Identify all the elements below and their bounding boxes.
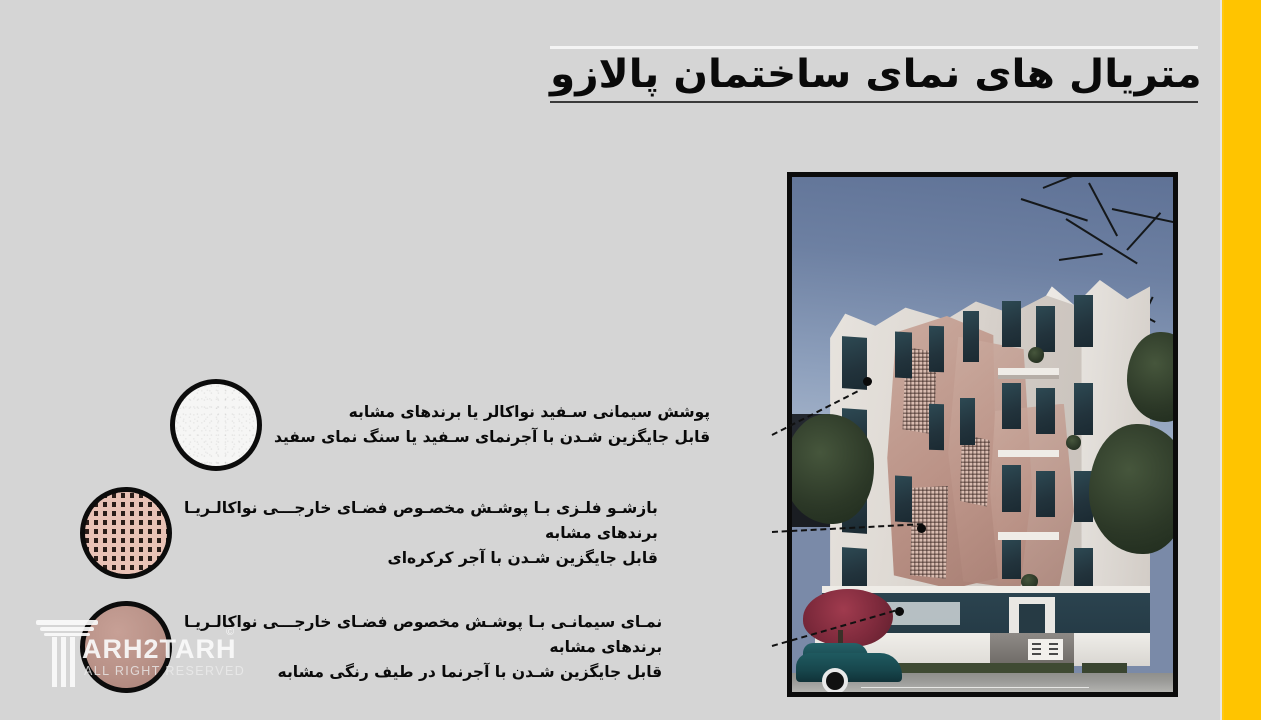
material-line: پوشش سیمانی سـفید نواکالر یا برندهای مشا… bbox=[274, 400, 710, 425]
street-tree bbox=[792, 414, 874, 524]
page-title: متریال های نمای ساختمان پالازو bbox=[550, 50, 1224, 100]
facade-screen-mesh bbox=[960, 435, 990, 507]
material-line: بازشـو فلـزی بـا پوشـش مخصـوص فضـای خارج… bbox=[184, 496, 658, 521]
material-line: قابل جایگزین شـدن با آجرنمای سـفید یا سن… bbox=[274, 425, 710, 450]
window bbox=[1074, 548, 1093, 589]
accent-yellow-bar bbox=[1224, 0, 1261, 720]
balcony-slab bbox=[998, 368, 1059, 375]
window bbox=[960, 398, 975, 444]
boundary-wall bbox=[1074, 633, 1150, 666]
window bbox=[1036, 471, 1055, 517]
window bbox=[1074, 383, 1093, 435]
window bbox=[895, 475, 912, 522]
window bbox=[1036, 306, 1055, 352]
metal-louver-screen-swatch[interactable] bbox=[80, 487, 172, 579]
wall-plaque bbox=[1028, 639, 1062, 660]
material-row-2: بازشـو فلـزی بـا پوشـش مخصـوص فضـای خارج… bbox=[80, 487, 658, 579]
material-row-1: پوشش سیمانی سـفید نواکالر یا برندهای مشا… bbox=[170, 379, 710, 471]
building-render-scene bbox=[792, 177, 1173, 692]
balcony-slab-shadow bbox=[998, 375, 1059, 379]
watermark: ARH2TARH © ALL RIGHT RESERVED bbox=[30, 612, 260, 692]
window bbox=[1002, 538, 1021, 579]
window bbox=[1074, 295, 1093, 347]
balcony-plant bbox=[1028, 347, 1044, 363]
leader-dot-3 bbox=[895, 607, 904, 616]
slide-canvas: متریال های نمای ساختمان پالازو bbox=[0, 0, 1261, 720]
window bbox=[895, 331, 912, 378]
watermark-copyright: © bbox=[226, 626, 234, 638]
title-rule-bottom bbox=[550, 101, 1198, 103]
watermark-subtitle: ALL RIGHT RESERVED bbox=[84, 664, 245, 678]
window bbox=[929, 326, 944, 373]
material-line: برندهای مشابه bbox=[184, 521, 658, 546]
street-tree-red bbox=[803, 589, 893, 647]
window bbox=[1002, 465, 1021, 511]
title-rule-top bbox=[550, 46, 1198, 49]
facade-screen-mesh bbox=[910, 486, 948, 579]
window bbox=[929, 403, 944, 450]
watermark-brand: ARH2TARH bbox=[82, 634, 237, 665]
parked-car bbox=[796, 653, 903, 681]
material-description-2: بازشـو فلـزی بـا پوشـش مخصـوص فضـای خارج… bbox=[184, 496, 658, 571]
street-lane-marking bbox=[861, 687, 1090, 689]
car-wheel bbox=[822, 668, 848, 692]
window bbox=[842, 547, 867, 590]
window bbox=[1002, 301, 1021, 347]
leader-dot-1 bbox=[863, 377, 872, 386]
leader-dot-2 bbox=[917, 524, 926, 533]
material-description-1: پوشش سیمانی سـفید نواکالر یا برندهای مشا… bbox=[274, 400, 710, 450]
balcony-slab bbox=[998, 450, 1059, 457]
entrance-door bbox=[1019, 604, 1046, 635]
window bbox=[1036, 388, 1055, 434]
window bbox=[963, 311, 978, 363]
material-line: قابل جایگزین شـدن با آجر کرکره‌ای bbox=[184, 546, 658, 571]
page-title-block: متریال های نمای ساختمان پالازو bbox=[550, 46, 1198, 103]
window bbox=[1002, 383, 1021, 429]
building-render-image bbox=[787, 172, 1178, 697]
white-cement-stucco-swatch[interactable] bbox=[170, 379, 262, 471]
balcony-slab bbox=[998, 532, 1059, 539]
balcony-plant bbox=[1066, 435, 1081, 450]
